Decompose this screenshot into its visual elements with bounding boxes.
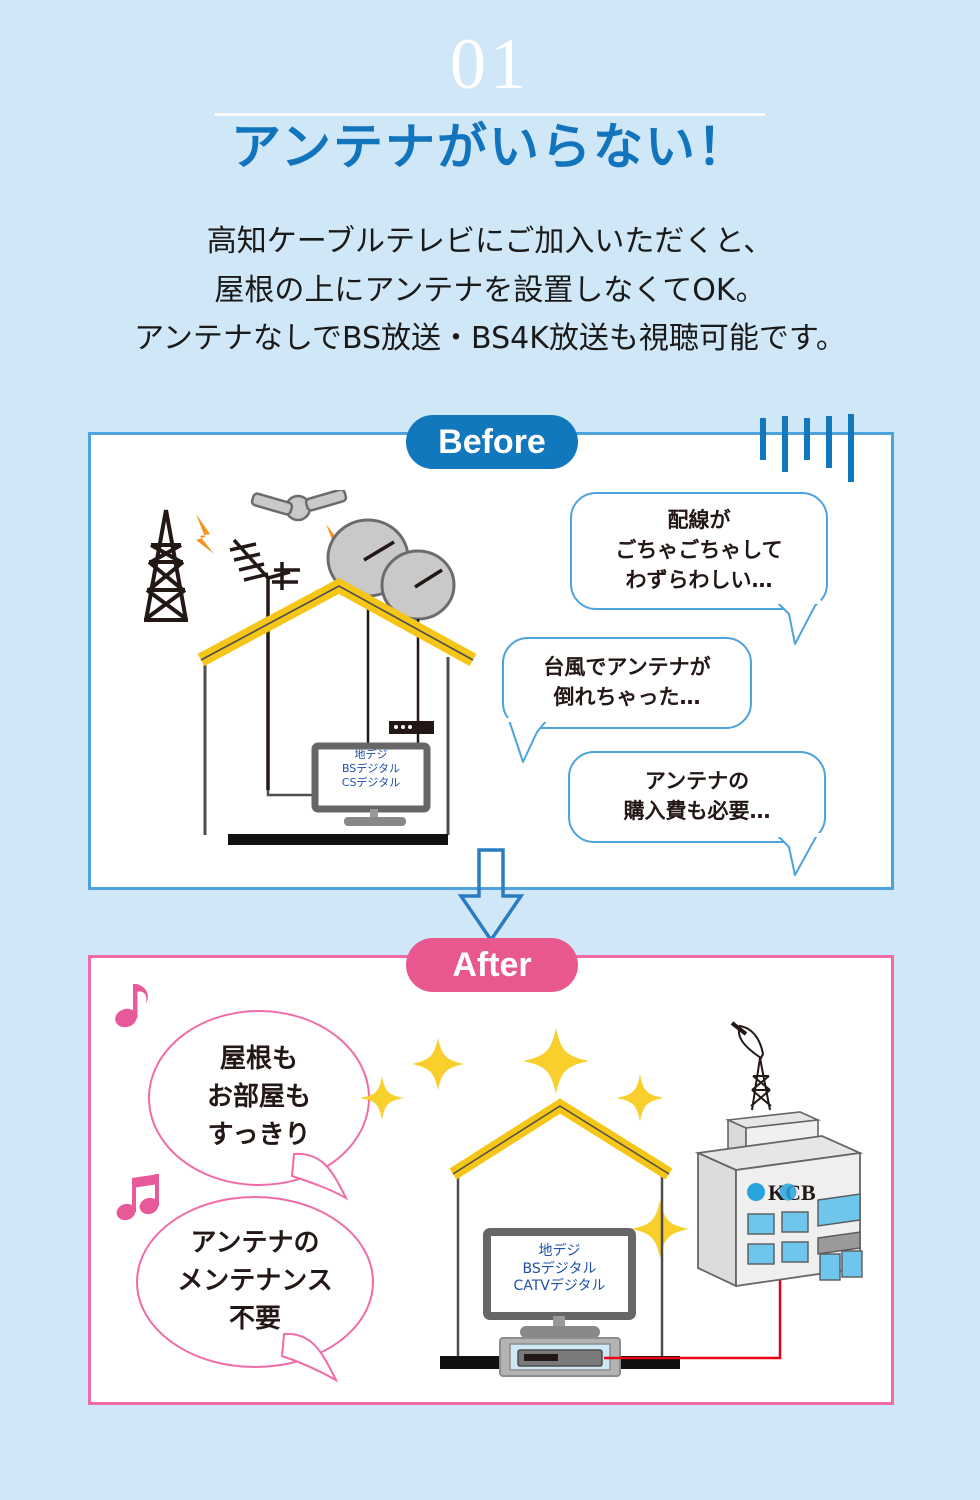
after-tv-screen-text: 地デジ BSデジタル CATVデジタル bbox=[487, 1243, 632, 1296]
lead-line-1: 高知ケーブルテレビにご加入いただくと、 bbox=[0, 218, 980, 267]
bubble-nomaint-tail bbox=[278, 1330, 348, 1388]
sparkle-icon bbox=[360, 1028, 689, 1258]
bubble-cost-line-1: アンテナの bbox=[624, 767, 771, 797]
kcb-building-icon: KCB bbox=[698, 1023, 862, 1286]
lightning-bolt-icon bbox=[196, 514, 346, 572]
page-title: アンテナがいらない！ bbox=[0, 120, 980, 175]
bubble-wiring-line-2: ごちゃごちゃして bbox=[615, 536, 782, 566]
promo-page: 01 アンテナがいらない！ 高知ケーブルテレビにご加入いただくと、 屋根の上にア… bbox=[0, 0, 980, 1500]
bubble-typhoon-tail bbox=[493, 718, 553, 768]
bubble-wiring-tail bbox=[775, 600, 835, 650]
bubble-cost-tail bbox=[775, 833, 835, 881]
bubble-nomaint-line-2: メンテナンス bbox=[177, 1263, 332, 1301]
antenna-cables bbox=[268, 790, 315, 795]
bubble-nomaint-line-1: アンテナの bbox=[177, 1225, 332, 1263]
uhf-antenna-icon bbox=[230, 540, 300, 790]
section-number: 01 bbox=[0, 28, 980, 100]
after-tv-line-1: 地デジ bbox=[487, 1243, 632, 1261]
after-tv-line-3: CATVデジタル bbox=[487, 1278, 632, 1296]
bubble-tidy-tail bbox=[288, 1148, 358, 1206]
satellite-icon bbox=[251, 490, 347, 520]
after-illustration: KCB bbox=[360, 1010, 880, 1395]
bubble-cost-line-2: 購入費も必要… bbox=[624, 797, 771, 827]
badge-before: Before bbox=[406, 415, 578, 469]
bubble-typhoon-line-2: 倒れちゃった… bbox=[543, 683, 710, 713]
bubble-cost: アンテナの 購入費も必要… bbox=[568, 751, 826, 843]
bubble-wiring-line-3: わずらわしい… bbox=[615, 566, 782, 596]
down-arrow-icon bbox=[455, 848, 527, 943]
before-tv-line-3: CSデジタル bbox=[315, 776, 427, 790]
lead-line-3: アンテナなしでBS放送・BS4K放送も視聴可能です。 bbox=[0, 315, 980, 364]
music-note-icon bbox=[112, 980, 160, 1032]
bubble-tidy-line-2: お部屋も bbox=[207, 1079, 311, 1117]
broadcast-tower-icon bbox=[144, 510, 188, 620]
set-top-box-icon bbox=[500, 1338, 620, 1376]
badge-after: After bbox=[406, 938, 578, 992]
after-tv-line-2: BSデジタル bbox=[487, 1261, 632, 1279]
before-tv-line-2: BSデジタル bbox=[315, 762, 427, 776]
rain-lines-icon bbox=[755, 404, 865, 484]
before-tv-line-1: 地デジ bbox=[315, 748, 427, 762]
music-notes-icon bbox=[116, 1172, 168, 1226]
bubble-wiring-line-1: 配線が bbox=[615, 506, 782, 536]
bubble-tidy-line-1: 屋根も bbox=[207, 1041, 311, 1079]
section-number-block: 01 bbox=[0, 18, 980, 108]
bubble-typhoon-line-1: 台風でアンテナが bbox=[543, 653, 710, 683]
before-tv-screen-text: 地デジ BSデジタル CSデジタル bbox=[315, 748, 427, 789]
bubble-wiring: 配線が ごちゃごちゃして わずらわしい… bbox=[570, 492, 828, 610]
parabolic-dish-tower-icon bbox=[732, 1023, 771, 1110]
lead-line-2: 屋根の上にアンテナを設置しなくてOK。 bbox=[0, 267, 980, 316]
set-top-box-icon bbox=[389, 721, 434, 734]
before-illustration bbox=[130, 490, 500, 862]
number-divider-rule bbox=[215, 113, 765, 116]
bubble-typhoon: 台風でアンテナが 倒れちゃった… bbox=[502, 637, 752, 729]
bs-dish-icon bbox=[328, 520, 408, 750]
lead-paragraph: 高知ケーブルテレビにご加入いただくと、 屋根の上にアンテナを設置しなくてOK。 … bbox=[0, 218, 980, 364]
